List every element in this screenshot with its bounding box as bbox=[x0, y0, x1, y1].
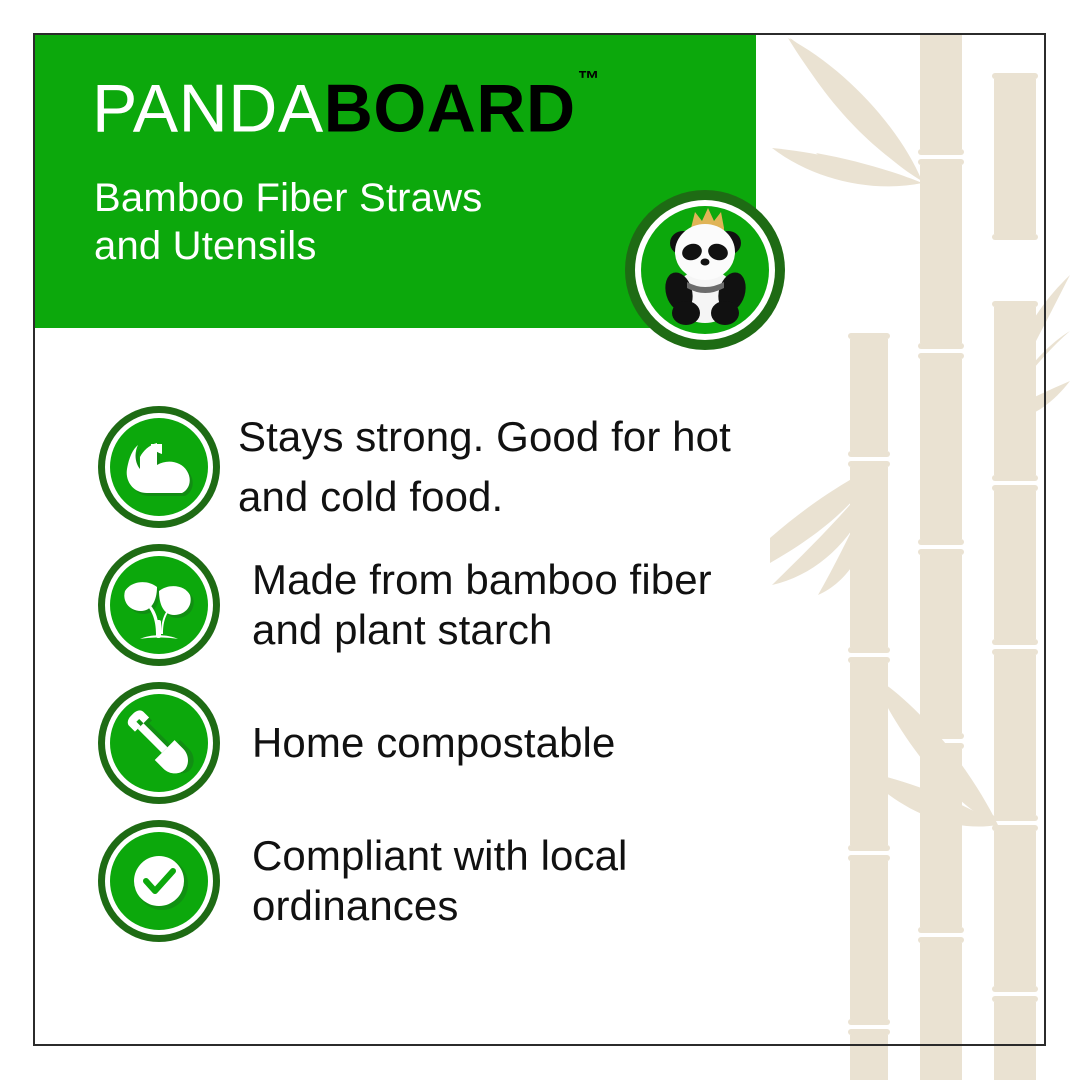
tagline-line-2: and Utensils bbox=[94, 222, 482, 270]
brand-name-bold: BOARD bbox=[324, 71, 576, 147]
feature-list: Stays strong. Good for hot and cold food… bbox=[96, 404, 816, 956]
list-item: Compliant with local ordinances bbox=[96, 818, 816, 944]
trademark-symbol: ™ bbox=[578, 66, 601, 91]
feature-line-2: and plant starch bbox=[252, 605, 816, 655]
brand-tagline: Bamboo Fiber Straws and Utensils bbox=[94, 174, 482, 270]
feature-line-1: Home compostable bbox=[252, 713, 816, 773]
panda-with-crown-icon bbox=[623, 188, 787, 352]
shovel-icon bbox=[96, 680, 222, 806]
tagline-line-1: Bamboo Fiber Straws bbox=[94, 174, 482, 222]
list-item: Made from bamboo fiber and plant starch bbox=[96, 542, 816, 668]
page-title: PANDABOARD™ bbox=[92, 64, 598, 146]
brand-name-light: PANDA bbox=[92, 71, 324, 147]
flexed-bicep-icon bbox=[96, 404, 222, 530]
check-circle-icon bbox=[96, 818, 222, 944]
list-item: Home compostable bbox=[96, 680, 816, 806]
feature-line-2: and cold food. bbox=[238, 467, 816, 527]
feature-line-2: ordinances bbox=[252, 881, 816, 931]
feature-text: Made from bamboo fiber and plant starch bbox=[222, 555, 816, 655]
seedling-plant-icon bbox=[96, 542, 222, 668]
feature-text: Stays strong. Good for hot and cold food… bbox=[222, 407, 816, 527]
feature-line-1: Compliant with local bbox=[252, 831, 816, 881]
poster-canvas: PANDABOARD™ Bamboo Fiber Straws and Uten… bbox=[0, 0, 1080, 1080]
feature-line-1: Made from bamboo fiber bbox=[252, 555, 816, 605]
feature-text: Home compostable bbox=[222, 713, 816, 773]
feature-line-1: Stays strong. Good for hot bbox=[238, 407, 816, 467]
list-item: Stays strong. Good for hot and cold food… bbox=[96, 404, 816, 530]
feature-text: Compliant with local ordinances bbox=[222, 831, 816, 931]
